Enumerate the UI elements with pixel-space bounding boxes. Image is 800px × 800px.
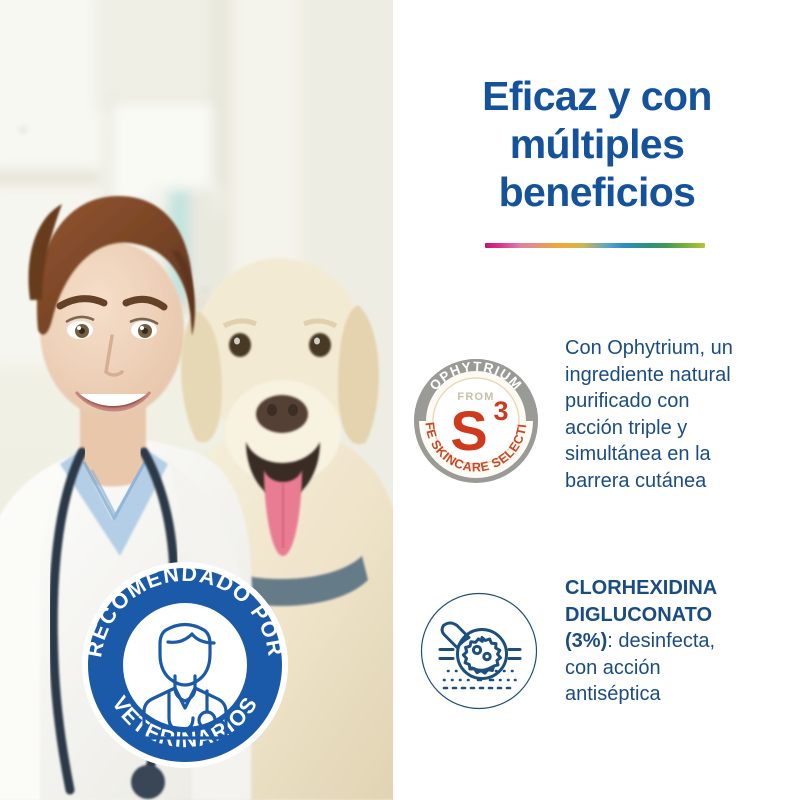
recomendado-por-veterinarios-badge: RECOMENDADO POR VETERINARIOS: [80, 560, 290, 770]
benefit-clorhexidina-line-5: antiséptica: [565, 683, 661, 705]
benefit-ophytrium-line-4: acción triple y: [565, 417, 687, 439]
benefit-clorhexidina-line-1: CLORHEXIDINA: [565, 577, 717, 599]
product-benefits-infographic: RECOMENDADO POR VETERINARIOS: [0, 0, 800, 800]
benefit-ophytrium-line-2: ingrediente natural: [565, 364, 731, 386]
headline-line-2: múltiples: [402, 120, 792, 168]
benefit-clorhexidina-line-2: DIGLUCONATO: [565, 604, 712, 626]
benefit-ophytrium-line-5: simultánea en la: [565, 443, 711, 465]
page-title: Eficaz y con múltiples beneficios: [402, 72, 792, 216]
s3-badge-superscript: 3: [493, 396, 508, 426]
benefit-ophytrium-line-6: barrera cutánea: [565, 470, 706, 492]
magnifier-over-bacteria-icon: [420, 592, 538, 710]
headline-line-3: beneficios: [402, 168, 792, 216]
benefit-ophytrium-line-3: purificado con: [565, 390, 690, 412]
benefit-ophytrium-line-1: Con Ophytrium, un: [565, 337, 733, 359]
veterinarian-photo-panel: RECOMENDADO POR VETERINARIOS: [0, 0, 393, 800]
ophytrium-s3-safe-skincare-selection-badge: OPHYTRIUM SAFE SKINCARE SELECTION FROM S…: [413, 358, 539, 484]
benefit-ophytrium-text: Con Ophytrium, un ingrediente natural pu…: [565, 335, 790, 494]
benefit-clorhexidina-line-4: con acción: [565, 657, 661, 679]
s3-badge-letter: S: [450, 399, 487, 462]
headline-line-1: Eficaz y con: [402, 72, 792, 120]
benefit-item-ophytrium: OPHYTRIUM SAFE SKINCARE SELECTION FROM S…: [393, 330, 800, 510]
benefit-clorhexidina-text: CLORHEXIDINA DIGLUCONATO (3%): desinfect…: [565, 575, 795, 708]
benefit-item-clorhexidina: CLORHEXIDINA DIGLUCONATO (3%): desinfect…: [393, 565, 800, 745]
benefit-clorhexidina-line-3: (3%): desinfecta,: [565, 630, 715, 652]
rainbow-gradient-rule: [485, 243, 705, 248]
benefits-content-panel: Eficaz y con múltiples beneficios: [393, 0, 800, 800]
